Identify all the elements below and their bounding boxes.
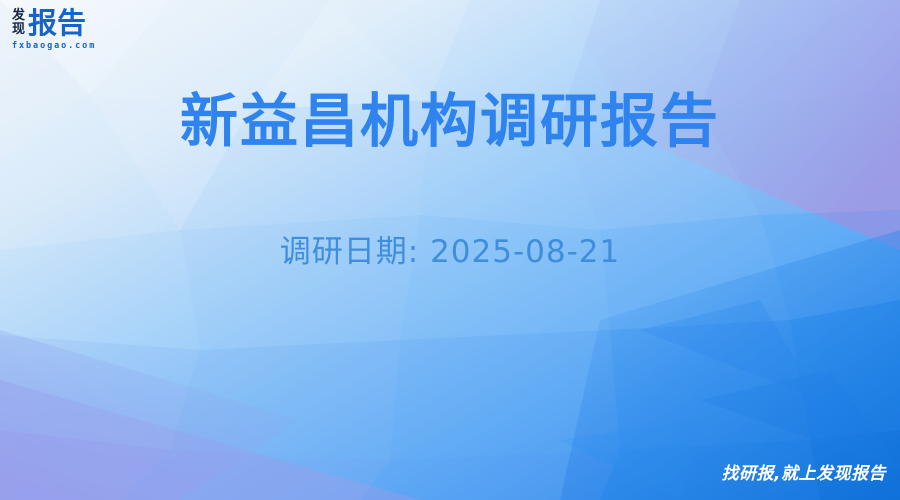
- report-cover-slide: 发 现 报告 fxbaogao.com 新益昌机构调研报告 调研日期: 2025…: [0, 0, 900, 500]
- site-logo[interactable]: 发 现 报告 fxbaogao.com: [12, 8, 162, 56]
- low-poly-background: [0, 0, 900, 500]
- logo-char-fa: 发: [12, 9, 25, 23]
- logo-wordmark-row: 发 现 报告: [12, 8, 162, 40]
- footer-tagline: 找研报,就上发现报告: [722, 464, 886, 484]
- logo-wordmark: 报告: [28, 8, 86, 38]
- logo-stacked-characters: 发 现: [12, 8, 25, 36]
- logo-char-xian: 现: [12, 23, 25, 37]
- logo-url: fxbaogao.com: [12, 41, 162, 51]
